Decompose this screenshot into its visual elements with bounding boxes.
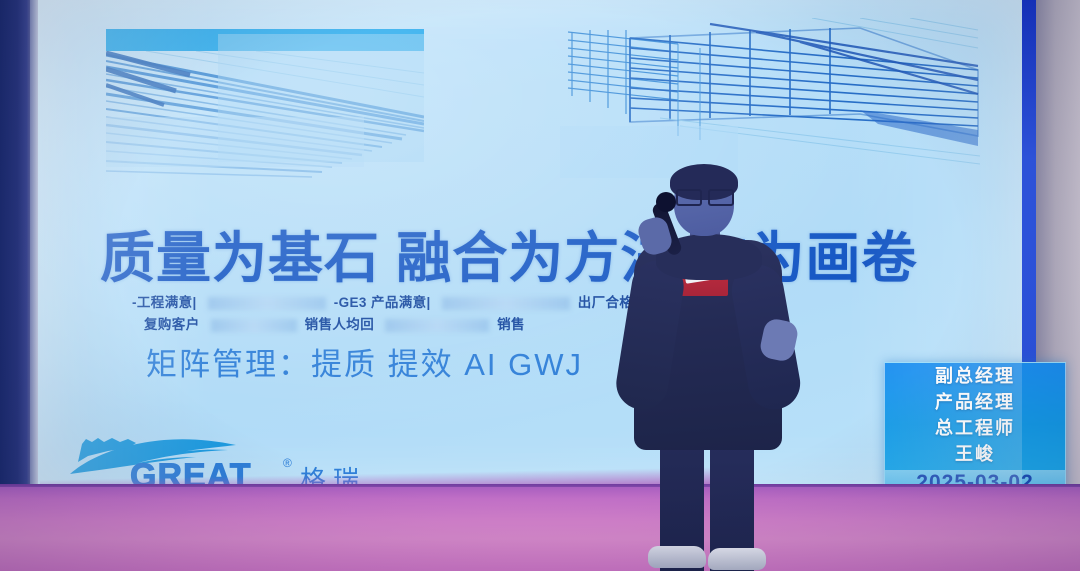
slide-graphic-right [560, 18, 980, 178]
presenter-glasses-left-lens-icon [676, 189, 702, 206]
logo-registered-icon: ® [283, 456, 292, 470]
presenter-shoe-left [648, 546, 706, 568]
credit-presenter-name: 王峻 [885, 441, 1065, 467]
stage-floor [0, 487, 1080, 571]
credit-title-3: 总工程师 [885, 415, 1065, 441]
presenter-glasses-right-lens-icon [708, 189, 734, 206]
redacted-value-4 [211, 319, 297, 332]
stage-photo-scene: 质量为基石 融合为方法 AI为画卷 -工程满意| -GE3 产品满意| 出厂合格… [0, 0, 1080, 571]
presenter-shoe-right [708, 548, 766, 570]
redacted-value-2 [442, 297, 570, 310]
metric-label-2: -GE3 产品满意| [334, 292, 431, 314]
metric-label-4: 复购客户 [144, 314, 200, 336]
credit-title-2: 产品经理 [885, 389, 1065, 415]
metric-label-1: -工程满意| [132, 292, 197, 314]
credit-title-1: 副总经理 [885, 363, 1065, 389]
metric-label-6: 销售 [497, 314, 525, 336]
presenter-figure [612, 168, 802, 571]
redacted-value-1 [208, 297, 326, 310]
presenter-credit-panel: 副总经理 产品经理 总工程师 王峻 2025-03-02 [884, 362, 1066, 500]
slide-matrix-line: 矩阵管理：提质 提效 AI GWJ [146, 345, 583, 385]
graphic-pane-overlay-2 [106, 117, 364, 167]
slide-graphic-left [106, 29, 424, 179]
microphone-head-icon [656, 192, 676, 212]
presentation-screen: 质量为基石 融合为方法 AI为画卷 -工程满意| -GE3 产品满意| 出厂合格… [38, 0, 1022, 487]
metric-label-5: 销售人均回 [305, 314, 375, 336]
redacted-value-5 [385, 319, 489, 332]
